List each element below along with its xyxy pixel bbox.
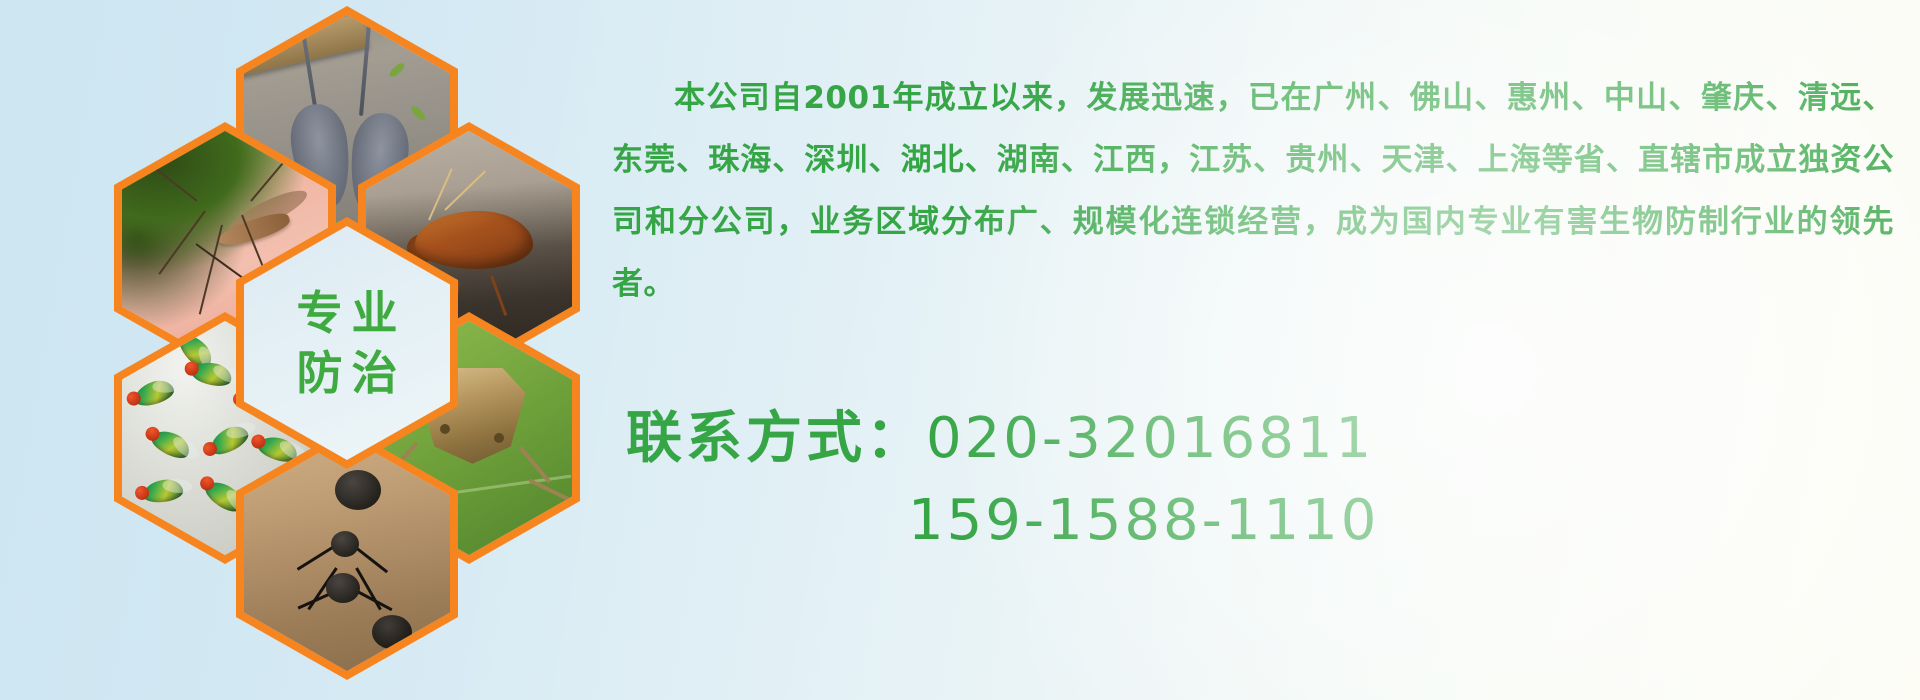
pest-control-banner: 专业 防治 本公司自2001年成立以来，发展迅速，已在广州、佛山、惠州、中山、肇… bbox=[0, 0, 1920, 700]
hex-inner-slogan: 专业 防治 bbox=[244, 226, 450, 460]
contact-phone-secondary[interactable]: 159-1588-1110 bbox=[908, 488, 1379, 553]
contact-primary-line: 联系方式：020-32016811 bbox=[612, 398, 1894, 480]
slogan-line-1: 专业 bbox=[288, 290, 407, 336]
black-ant-photo bbox=[244, 437, 450, 671]
company-intro-paragraph: 本公司自2001年成立以来，发展迅速，已在广州、佛山、惠州、中山、肇庆、清远、东… bbox=[612, 67, 1894, 315]
contact-block: 联系方式：020-32016811 159-1588-1110 bbox=[612, 398, 1894, 562]
contact-phone-primary[interactable]: 020-32016811 bbox=[926, 406, 1374, 471]
honeycomb-collage: 专业 防治 bbox=[92, 0, 602, 580]
hex-inner-ant bbox=[244, 437, 450, 671]
slogan-line-2: 防治 bbox=[288, 350, 407, 396]
contact-secondary-line: 159-1588-1110 bbox=[612, 480, 1894, 562]
slogan-text: 专业 防治 bbox=[244, 226, 450, 460]
copy-column: 本公司自2001年成立以来，发展迅速，已在广州、佛山、惠州、中山、肇庆、清远、东… bbox=[612, 0, 1902, 700]
contact-label: 联系方式： bbox=[626, 406, 926, 471]
